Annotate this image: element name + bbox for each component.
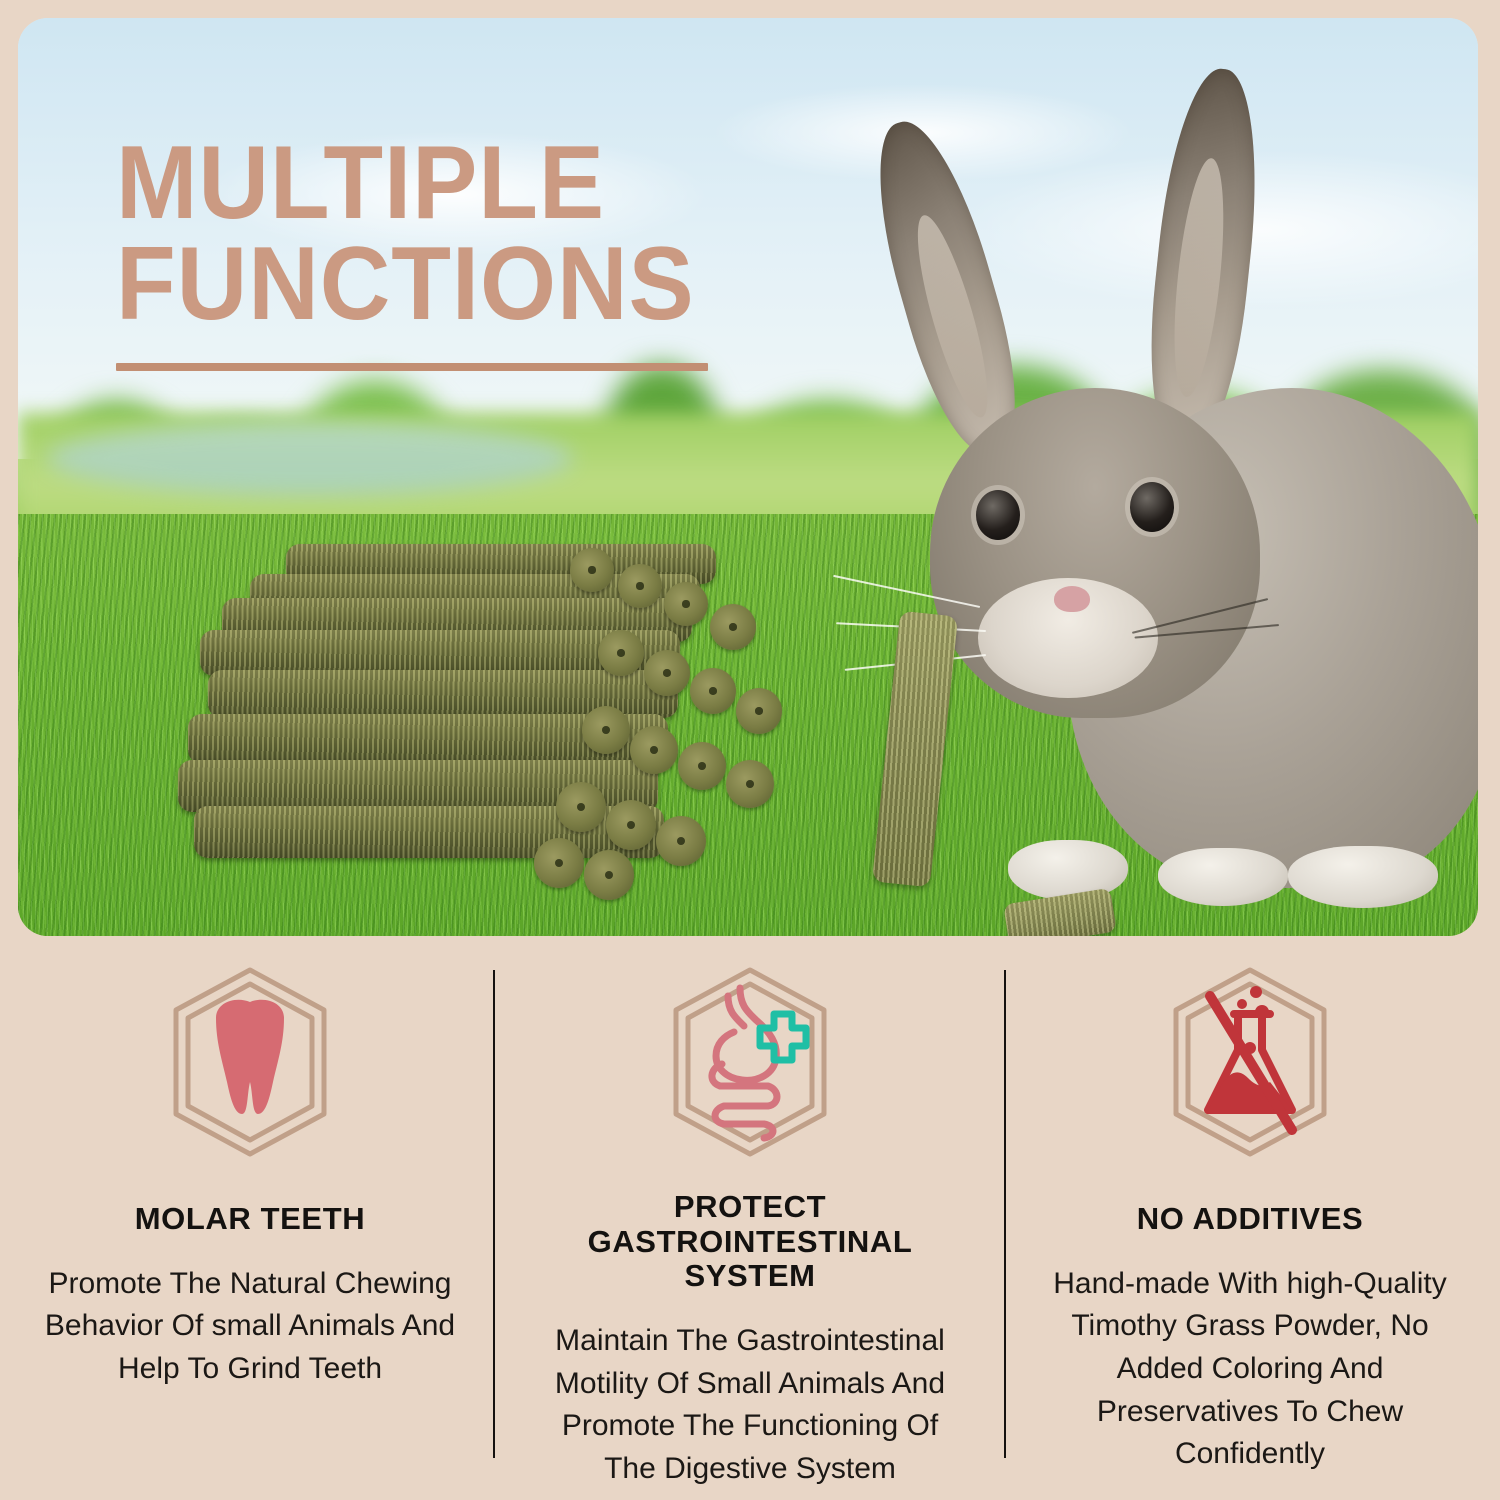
feature-body-gastrointestinal: Maintain The Gastrointestinal Motility O… xyxy=(535,1320,965,1490)
rabbit-left-ear xyxy=(855,110,1037,462)
feature-column-no-additives: NO ADDITIVES Hand-made With high-Quality… xyxy=(1000,952,1500,1492)
hero-title-line-2: FUNCTIONS xyxy=(116,234,695,335)
rabbit-photo-subject xyxy=(858,58,1478,928)
stomach-intestine-plus-icon xyxy=(652,964,848,1160)
feature-column-molar-teeth: MOLAR TEETH Promote The Natural Chewing … xyxy=(0,952,500,1492)
feature-columns: MOLAR TEETH Promote The Natural Chewing … xyxy=(0,952,1500,1492)
feature-body-no-additives: Hand-made With high-Quality Timothy Gras… xyxy=(1035,1263,1465,1476)
feature-title-molar-teeth: MOLAR TEETH xyxy=(135,1202,365,1237)
chew-stick-in-mouth xyxy=(872,611,958,888)
rabbit-front-paw-right xyxy=(1158,848,1288,906)
hay-stick-stack xyxy=(178,538,798,898)
hero-title-block: MULTIPLE FUNCTIONS xyxy=(116,133,732,371)
tooth-icon xyxy=(152,964,348,1160)
feature-body-molar-teeth: Promote The Natural Chewing Behavior Of … xyxy=(35,1263,465,1391)
feature-title-no-additives: NO ADDITIVES xyxy=(1137,1202,1364,1237)
hero-title-line-1: MULTIPLE xyxy=(116,133,695,234)
infographic-page: MULTIPLE FUNCTIONS MOLAR TEETH Promote T… xyxy=(0,0,1500,1500)
feature-title-gastrointestinal: PROTECT GASTROINTESTINAL SYSTEM xyxy=(522,1190,978,1294)
feature-title-gastrointestinal-line2: GASTROINTESTINAL SYSTEM xyxy=(588,1224,913,1294)
rabbit-front-paw-left xyxy=(1008,840,1128,900)
no-additives-flask-icon xyxy=(1152,964,1348,1160)
rabbit-left-eye xyxy=(976,490,1020,540)
rabbit-nose xyxy=(1054,586,1090,612)
rabbit-hind-paw xyxy=(1288,846,1438,908)
rabbit-right-eye xyxy=(1130,482,1174,532)
pond xyxy=(47,422,573,495)
hero-title-underline xyxy=(116,363,708,371)
hero-product-photo: MULTIPLE FUNCTIONS xyxy=(18,18,1478,936)
feature-column-gastrointestinal: PROTECT GASTROINTESTINAL SYSTEM Maintain… xyxy=(500,952,1000,1492)
feature-title-gastrointestinal-line1: PROTECT xyxy=(674,1189,826,1224)
chew-stick-on-grass xyxy=(1003,888,1117,936)
